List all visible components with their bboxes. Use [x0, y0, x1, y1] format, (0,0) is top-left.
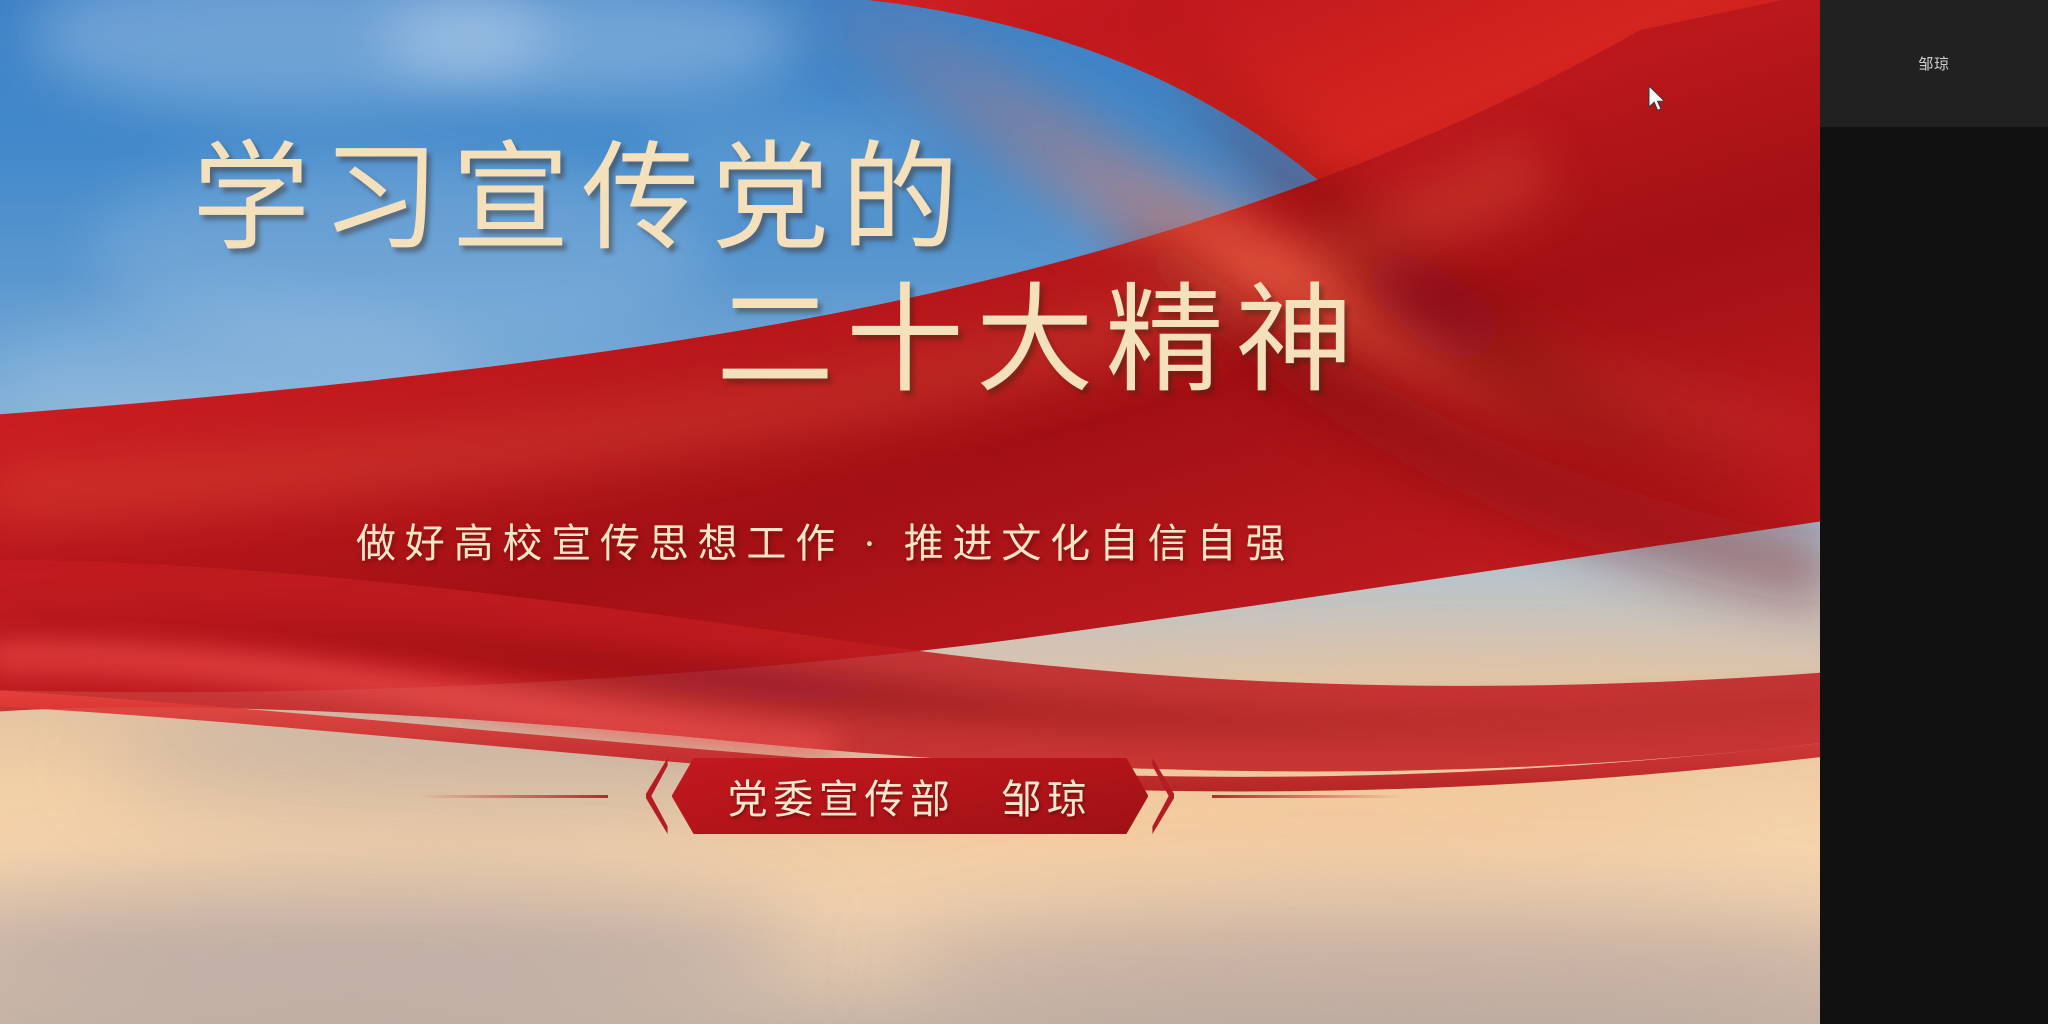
slide-subtitle: 做好高校宣传思想工作 · 推进文化自信自强: [356, 511, 1294, 569]
slide-title-line-2: 二十大精神: [716, 283, 1365, 401]
chevron-right-icon: [1152, 758, 1174, 834]
badge-rule-left: [418, 795, 608, 798]
participant-sidebar[interactable]: 邹琼: [1820, 0, 2048, 1024]
presenter-badge: 党委宣传部 邹琼: [672, 758, 1149, 834]
chevron-left-icon: [646, 758, 668, 834]
shared-slide-stage[interactable]: 学习宣传党的 二十大精神 做好高校宣传思想工作 · 推进文化自信自强 党委宣传部…: [0, 0, 1820, 1024]
participant-name-label: 邹琼: [1918, 53, 1949, 74]
screen-root: 学习宣传党的 二十大精神 做好高校宣传思想工作 · 推进文化自信自强 党委宣传部…: [0, 0, 2048, 1024]
badge-rule-right: [1212, 795, 1402, 798]
presenter-badge-row: 党委宣传部 邹琼: [0, 752, 1820, 840]
presenter-badge-label: 党委宣传部 邹琼: [728, 767, 1093, 825]
slide-text-layer: 学习宣传党的 二十大精神 做好高校宣传思想工作 · 推进文化自信自强: [0, 0, 1820, 1024]
participant-tile[interactable]: 邹琼: [1820, 0, 2048, 127]
sidebar-empty-area: [1820, 127, 2048, 1024]
slide-title-line-1: 学习宣传党的: [192, 141, 971, 259]
